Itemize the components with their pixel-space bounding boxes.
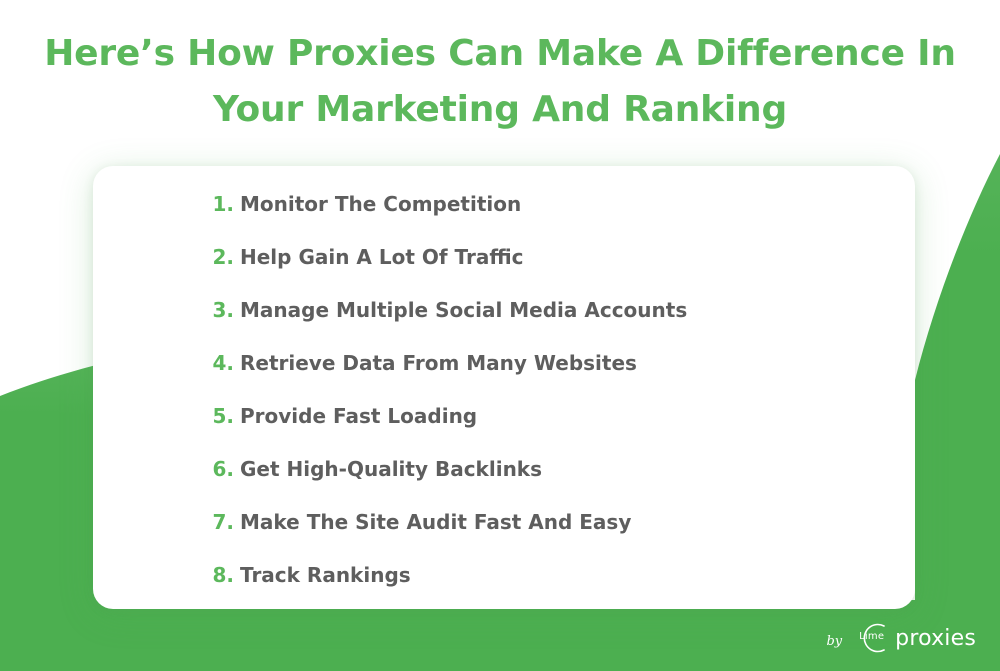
list-item-number: 8.	[210, 549, 234, 602]
page-title-line-1: Here’s How Proxies Can Make A Difference…	[0, 26, 1000, 82]
list-item-label: Help Gain A Lot Of Traffic	[240, 231, 524, 284]
brand-by-label: by	[826, 635, 842, 648]
list-item-number: 3.	[210, 284, 234, 337]
infographic-canvas: Here’s How Proxies Can Make A Difference…	[0, 0, 1000, 671]
list-item-label: Manage Multiple Social Media Accounts	[240, 284, 687, 337]
list-item: 4. Retrieve Data From Many Websites	[93, 337, 915, 390]
brand-logo: by Lime proxies	[826, 621, 976, 655]
list-item-number: 2.	[210, 231, 234, 284]
list-item: 1. Monitor The Competition	[93, 178, 915, 231]
benefit-list: 1. Monitor The Competition 2. Help Gain …	[93, 178, 915, 602]
list-item: 6. Get High-Quality Backlinks	[93, 443, 915, 496]
list-item-label: Retrieve Data From Many Websites	[240, 337, 637, 390]
list-item-label: Monitor The Competition	[240, 178, 521, 231]
right-green-wave	[915, 154, 1000, 671]
list-item: 3. Manage Multiple Social Media Accounts	[93, 284, 915, 337]
list-item-number: 5.	[210, 390, 234, 443]
list-item-number: 1.	[210, 178, 234, 231]
list-item-label: Provide Fast Loading	[240, 390, 477, 443]
proxies-wordmark: proxies	[895, 628, 976, 650]
page-title-line-2: Your Marketing And Ranking	[0, 82, 1000, 138]
lime-wordmark: Lime	[859, 632, 884, 642]
lime-circle-icon: Lime	[846, 622, 892, 654]
list-item: 7. Make The Site Audit Fast And Easy	[93, 496, 915, 549]
list-item-number: 4.	[210, 337, 234, 390]
list-item: 5. Provide Fast Loading	[93, 390, 915, 443]
list-item-number: 7.	[210, 496, 234, 549]
list-item-label: Make The Site Audit Fast And Easy	[240, 496, 631, 549]
list-item-label: Track Rankings	[240, 549, 411, 602]
list-item: 2. Help Gain A Lot Of Traffic	[93, 231, 915, 284]
list-item-number: 6.	[210, 443, 234, 496]
list-item-label: Get High-Quality Backlinks	[240, 443, 542, 496]
page-title: Here’s How Proxies Can Make A Difference…	[0, 26, 1000, 138]
list-item: 8. Track Rankings	[93, 549, 915, 602]
